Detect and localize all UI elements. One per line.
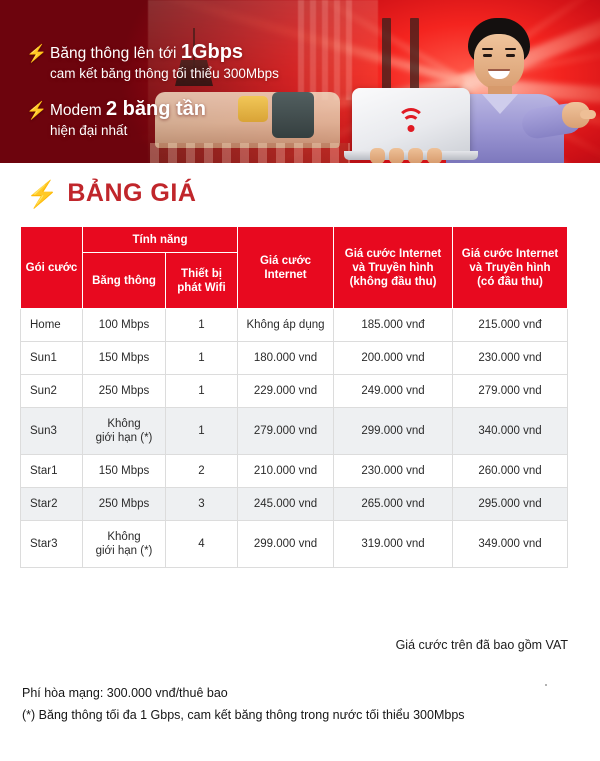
cell-package: Star1 <box>21 455 83 488</box>
banner-bullet-0: ⚡ Băng thông lên tới 1Gbps cam kết băng … <box>26 42 356 83</box>
cell-tv-no-receiver: 319.000 vnd <box>334 521 453 568</box>
promo-banner: ⚡ Băng thông lên tới 1Gbps cam kết băng … <box>0 0 600 163</box>
cell-internet-price: 299.000 vnd <box>238 521 334 568</box>
cell-tv-no-receiver: 249.000 vnd <box>334 375 453 408</box>
cell-bandwidth: 250 Mbps <box>83 488 166 521</box>
cell-tv-no-receiver: 265.000 vnd <box>334 488 453 521</box>
th-tv-no-l1: Giá cước Internet <box>345 248 441 260</box>
th-internet-price-l2: Internet <box>264 269 306 281</box>
price-table: Gói cước Tính năng Giá cước Internet Giá… <box>20 226 568 568</box>
price-list-page: ⚡ Băng thông lên tới 1Gbps cam kết băng … <box>0 0 600 761</box>
bullet-1-line2: hiện đại nhất <box>50 121 206 140</box>
cell-wifi-devices: 1 <box>166 408 238 455</box>
th-wifi-device: Thiết bị phát Wifi <box>166 253 238 309</box>
cell-bandwidth: Khônggiới hạn (*) <box>83 521 166 568</box>
table-row: Sun3Khônggiới hạn (*)1279.000 vnd299.000… <box>21 408 568 455</box>
price-table-wrapper: Gói cước Tính năng Giá cước Internet Giá… <box>20 226 567 568</box>
banner-bullet-1: ⚡ Modem 2 băng tần hiện đại nhất <box>26 99 356 140</box>
th-package: Gói cước <box>21 227 83 309</box>
cell-package: Star3 <box>21 521 83 568</box>
table-row: Sun1150 Mbps1180.000 vnd200.000 vnd230.0… <box>21 342 568 375</box>
table-row: Sun2250 Mbps1229.000 vnd249.000 vnd279.0… <box>21 375 568 408</box>
cell-tv-with-receiver: 279.000 vnd <box>453 375 568 408</box>
banner-bullet-list: ⚡ Băng thông lên tới 1Gbps cam kết băng … <box>26 42 356 156</box>
table-row: Star1150 Mbps2210.000 vnd230.000 vnd260.… <box>21 455 568 488</box>
th-tv-yes-l2: và Truyền hình <box>469 262 550 274</box>
wifi-icon <box>396 108 426 134</box>
bolt-icon: ⚡ <box>26 45 40 62</box>
cell-tv-with-receiver: 340.000 vnd <box>453 408 568 455</box>
cell-tv-with-receiver: 215.000 vnđ <box>453 309 568 342</box>
header-row-top: Gói cước Tính năng Giá cước Internet Giá… <box>21 227 568 253</box>
cell-internet-price: 245.000 vnd <box>238 488 334 521</box>
cell-package: Sun1 <box>21 342 83 375</box>
table-row: Star3Khônggiới hạn (*)4299.000 vnd319.00… <box>21 521 568 568</box>
cell-internet-price: Không áp dụng <box>238 309 334 342</box>
th-internet-price-l1: Giá cước <box>260 255 311 267</box>
cell-tv-no-receiver: 200.000 vnd <box>334 342 453 375</box>
cell-tv-no-receiver: 185.000 vnđ <box>334 309 453 342</box>
bullet-0-line1-prefix: Băng thông lên tới <box>50 45 181 62</box>
footer-note-line-2: (*) Băng thông tối đa 1 Gbps, cam kết bă… <box>22 704 465 726</box>
page-title: BẢNG GIÁ <box>67 179 196 208</box>
cell-package: Star2 <box>21 488 83 521</box>
holding-fingers <box>370 148 454 163</box>
cell-wifi-devices: 2 <box>166 455 238 488</box>
cell-tv-with-receiver: 295.000 vnd <box>453 488 568 521</box>
cell-bandwidth: Khônggiới hạn (*) <box>83 408 166 455</box>
cell-internet-price: 180.000 vnd <box>238 342 334 375</box>
th-tv-no-l3: (không đầu thu) <box>350 276 437 288</box>
cell-package: Sun2 <box>21 375 83 408</box>
cell-wifi-devices: 3 <box>166 488 238 521</box>
th-wifi-device-l2: phát Wifi <box>177 282 225 294</box>
bullet-1-line1-strong: 2 băng tần <box>106 98 206 120</box>
cell-wifi-devices: 4 <box>166 521 238 568</box>
footer-notes: Phí hòa mạng: 300.000 vnđ/thuê bao (*) B… <box>22 682 465 726</box>
cell-wifi-devices: 1 <box>166 309 238 342</box>
cell-internet-price: 210.000 vnd <box>238 455 334 488</box>
table-row: Home100 Mbps1Không áp dụng185.000 vnđ215… <box>21 309 568 342</box>
laptop-graphic <box>352 88 472 163</box>
cell-package: Home <box>21 309 83 342</box>
cell-package: Sun3 <box>21 408 83 455</box>
section-title-row: ⚡ BẢNG GIÁ <box>26 179 196 208</box>
cell-bandwidth: 150 Mbps <box>83 342 166 375</box>
scan-artifact-dot <box>545 684 547 686</box>
th-wifi-device-l1: Thiết bị <box>181 268 222 280</box>
price-table-body: Home100 Mbps1Không áp dụng185.000 vnđ215… <box>21 309 568 568</box>
bullet-1-line1-prefix: Modem <box>50 102 106 119</box>
th-internet-tv-with-receiver: Giá cước Internet và Truyền hình (có đầu… <box>453 227 568 309</box>
th-tv-yes-l1: Giá cước Internet <box>462 248 558 260</box>
cell-tv-with-receiver: 260.000 vnd <box>453 455 568 488</box>
cell-bandwidth: 250 Mbps <box>83 375 166 408</box>
price-table-head: Gói cước Tính năng Giá cước Internet Giá… <box>21 227 568 309</box>
th-internet-price: Giá cước Internet <box>238 227 334 309</box>
bullet-0-line2: cam kết băng thông tối thiểu 300Mbps <box>50 64 279 83</box>
th-tv-yes-l3: (có đầu thu) <box>477 276 543 288</box>
bolt-icon: ⚡ <box>26 181 58 207</box>
cell-tv-no-receiver: 230.000 vnd <box>334 455 453 488</box>
footer-note-line-1: Phí hòa mạng: 300.000 vnđ/thuê bao <box>22 682 465 704</box>
cell-internet-price: 229.000 vnd <box>238 375 334 408</box>
cell-tv-with-receiver: 230.000 vnd <box>453 342 568 375</box>
cell-tv-with-receiver: 349.000 vnd <box>453 521 568 568</box>
th-features-group: Tính năng <box>83 227 238 253</box>
cell-wifi-devices: 1 <box>166 342 238 375</box>
table-row: Star2250 Mbps3245.000 vnd265.000 vnd295.… <box>21 488 568 521</box>
th-tv-no-l2: và Truyền hình <box>352 262 433 274</box>
th-bandwidth: Băng thông <box>83 253 166 309</box>
cell-bandwidth: 150 Mbps <box>83 455 166 488</box>
vat-note: Giá cước trên đã bao gồm VAT <box>396 638 568 652</box>
bolt-icon: ⚡ <box>26 102 40 119</box>
cell-bandwidth: 100 Mbps <box>83 309 166 342</box>
th-internet-tv-no-receiver: Giá cước Internet và Truyền hình (không … <box>334 227 453 309</box>
cell-internet-price: 279.000 vnd <box>238 408 334 455</box>
bullet-0-line1-strong: 1Gbps <box>181 41 243 63</box>
cell-tv-no-receiver: 299.000 vnd <box>334 408 453 455</box>
cell-wifi-devices: 1 <box>166 375 238 408</box>
